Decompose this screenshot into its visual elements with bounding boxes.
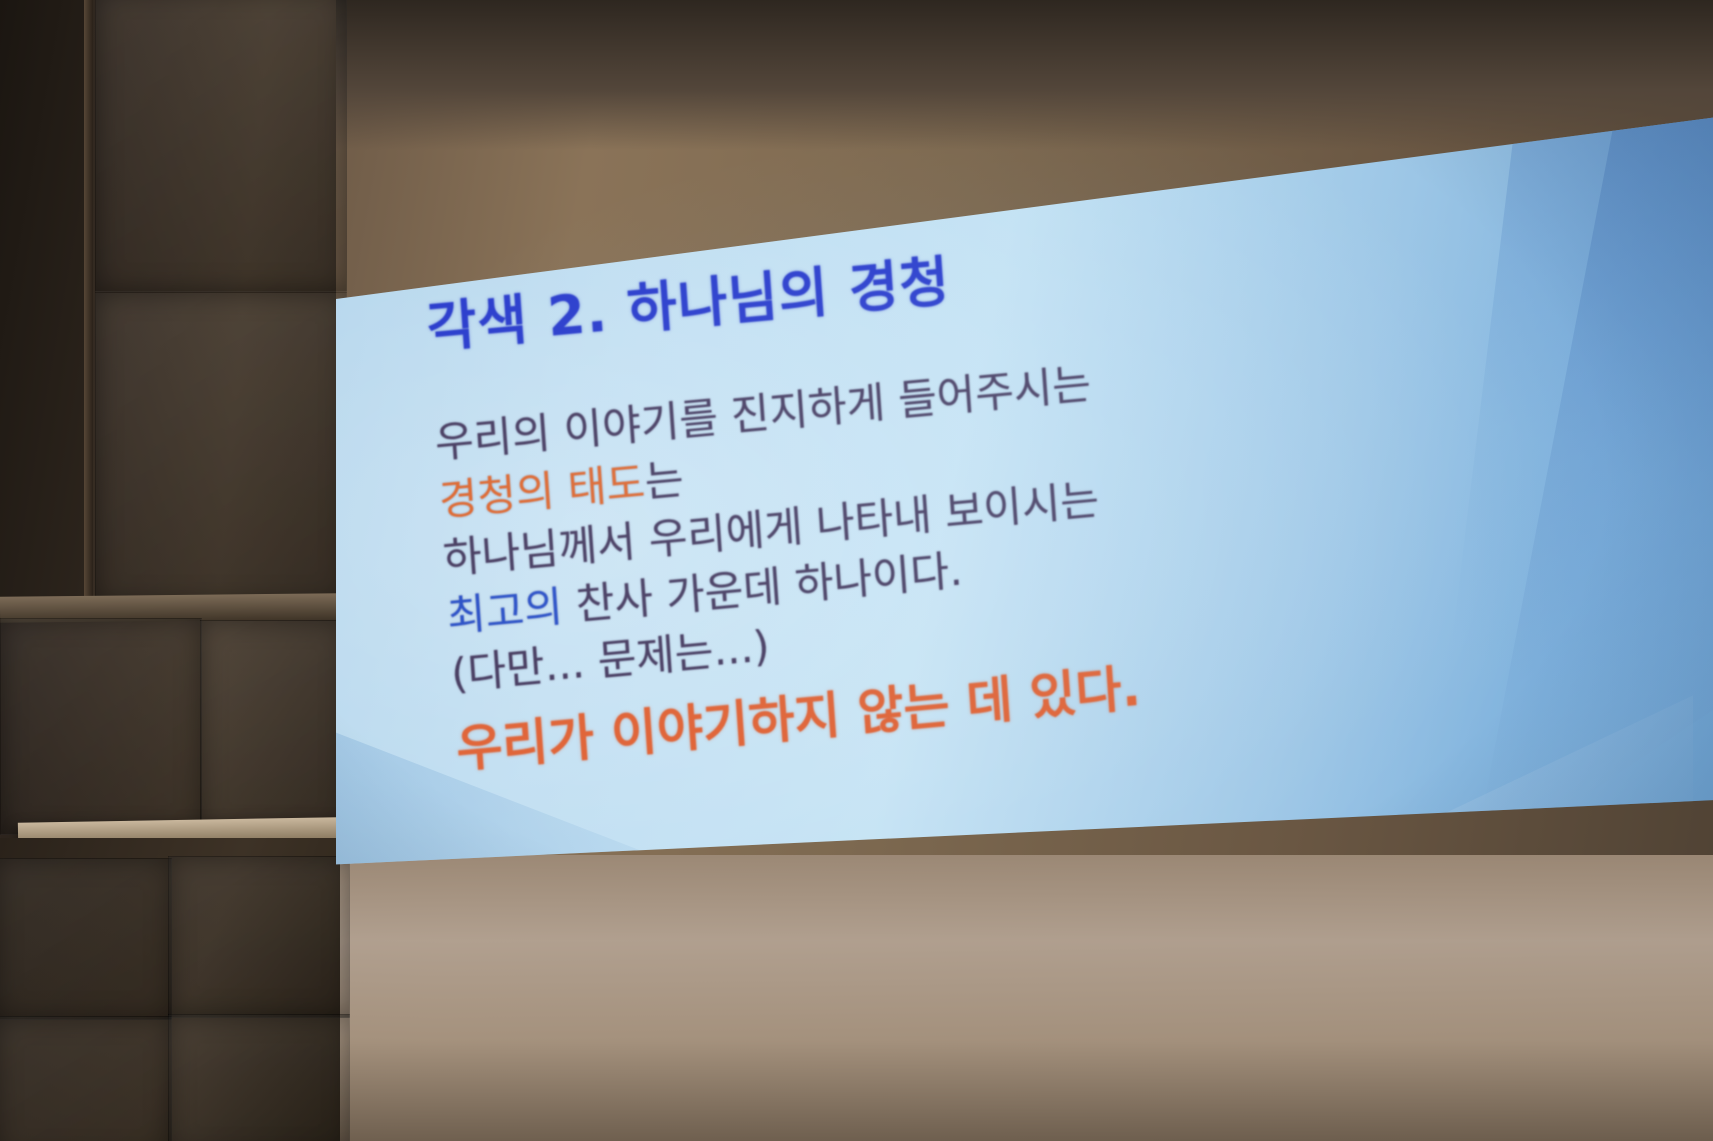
stone-block: [95, 292, 347, 604]
stone-block: [168, 856, 350, 1018]
line-2-segment-2: 는: [643, 454, 685, 506]
column-bevel: [84, 0, 93, 600]
stone-block: [0, 858, 172, 1020]
slide-surface: 각색 2. 하나님의 경청 우리의 이야기를 진지하게 들어주시는 경청의 태도…: [336, 112, 1713, 872]
slide-text-block: 각색 2. 하나님의 경청 우리의 이야기를 진지하게 들어주시는 경청의 태도…: [424, 182, 1574, 781]
line-4-segment-1: 최고의: [446, 582, 565, 641]
lower-wall: [0, 838, 340, 1141]
wall-lower-panel: [330, 855, 1713, 1141]
stone-block: [200, 620, 347, 834]
projection-screen: 각색 2. 하나님의 경청 우리의 이야기를 진지하게 들어주시는 경청의 태도…: [336, 112, 1713, 872]
column-dark-panel: [0, 0, 84, 600]
stone-block: [168, 1014, 350, 1141]
photo-scene: 각색 2. 하나님의 경청 우리의 이야기를 진지하게 들어주시는 경청의 태도…: [0, 0, 1713, 1141]
stone-block: [0, 618, 202, 835]
stone-block: [95, 0, 347, 292]
stone-block: [0, 1016, 172, 1141]
stone-column: [0, 0, 336, 1141]
